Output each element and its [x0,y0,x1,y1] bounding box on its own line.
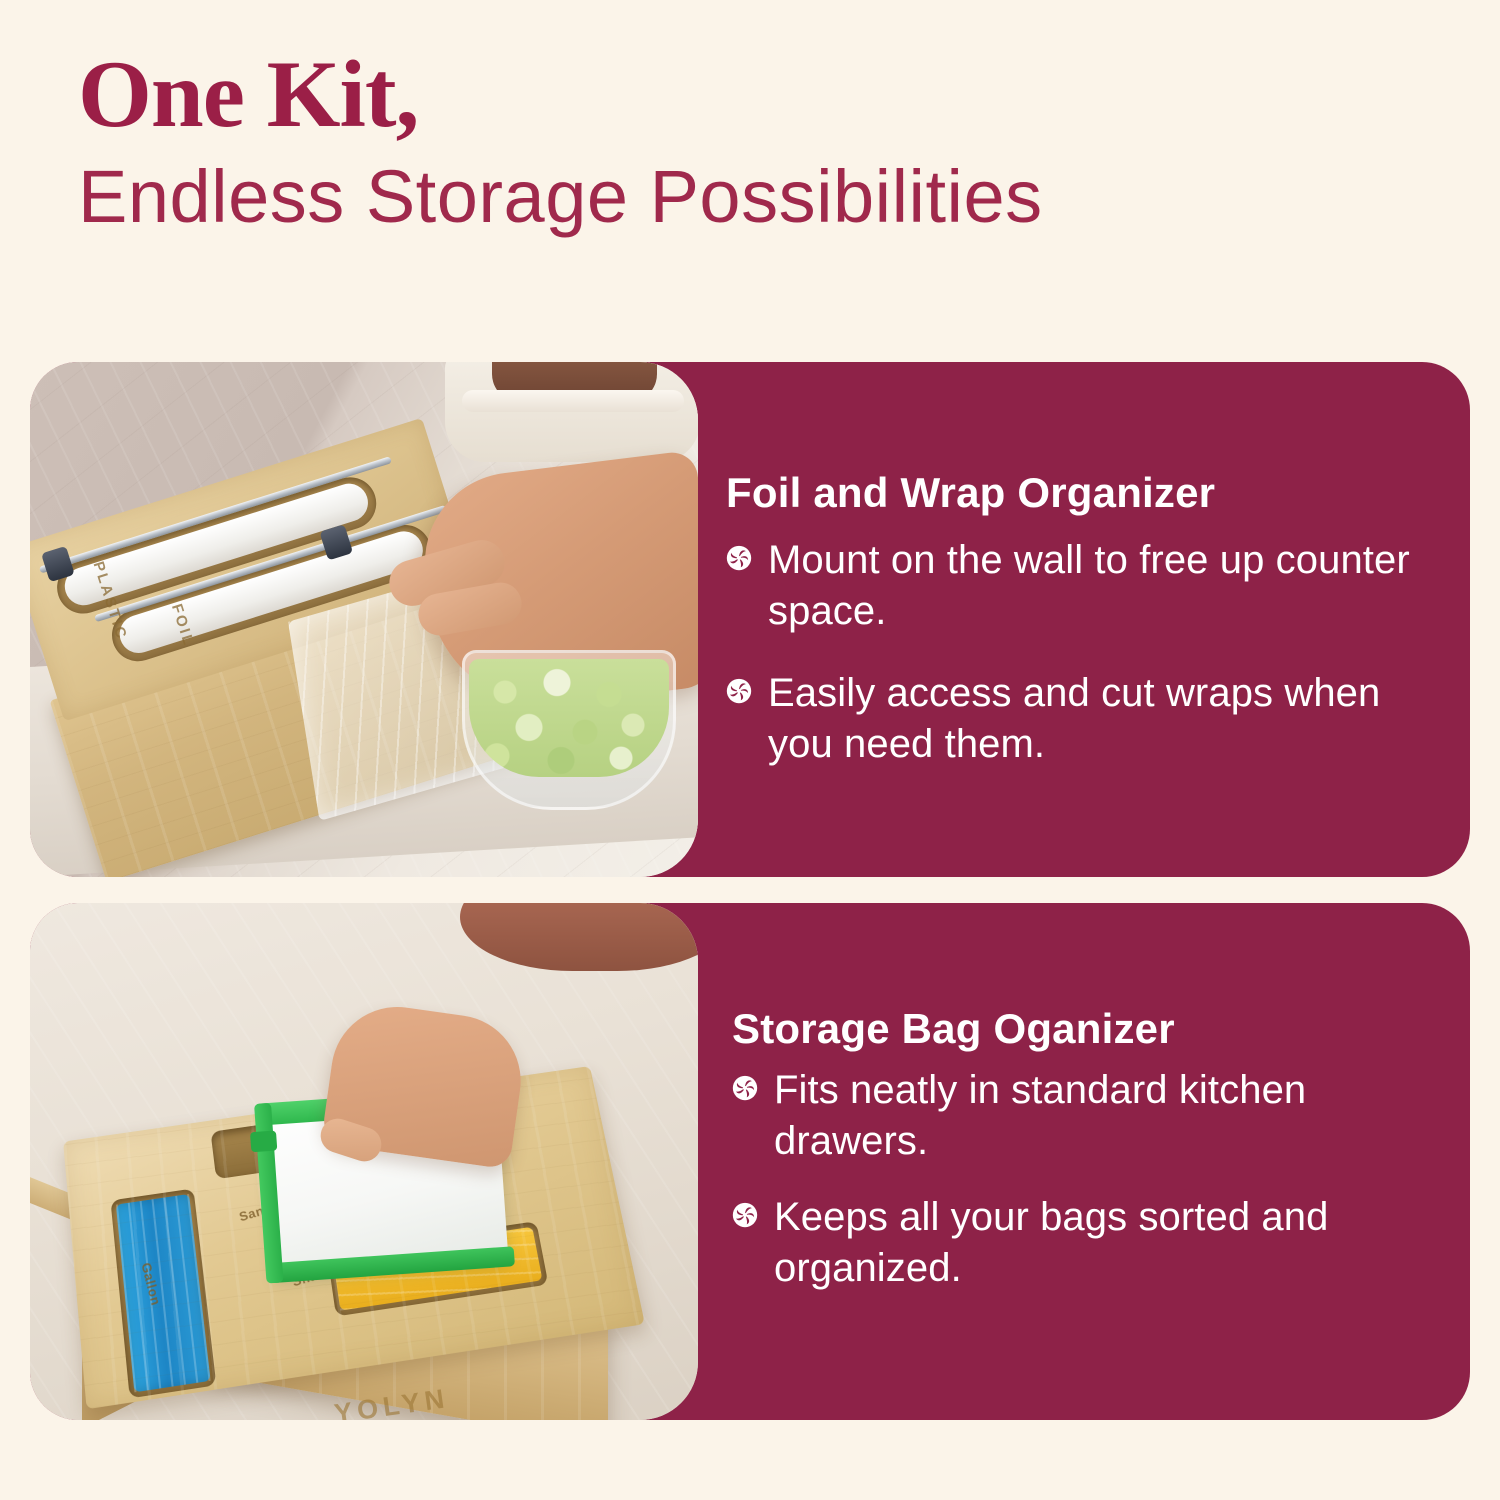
feature-card-foil-and-wrap-organizer: PLASTIC FOIL Foil and Wrap Organizer [30,362,1470,877]
pinwheel-bullet-icon [732,1075,758,1101]
page-title-line-2: Endless Storage Possibilities [78,153,1500,240]
feature-card-storage-bag-organizer: Gallon Sandwich Snack YOLYN Storage Bag … [30,903,1470,1420]
bag-zip-slider [250,1131,277,1153]
product-photo-storage-bag-organizer: Gallon Sandwich Snack YOLYN [30,903,698,1420]
pinwheel-bullet-icon [732,1202,758,1228]
list-item: Easily access and cut wraps when you nee… [726,668,1424,770]
card-1-text-panel: Foil and Wrap Organizer Mount on the wal… [698,362,1470,877]
card-2-title: Storage Bag Oganizer [732,1005,1424,1053]
card-2-text-panel: Storage Bag Oganizer Fits neatly in stan… [698,903,1470,1420]
card-1-title: Foil and Wrap Organizer [726,469,1424,517]
pinwheel-bullet-icon [726,678,752,704]
list-item: Mount on the wall to free up counter spa… [726,535,1424,637]
pinwheel-bullet-icon [726,545,752,571]
card-2-bullet-text: Keeps all your bags sorted and organized… [774,1192,1424,1294]
page-header: One Kit, Endless Storage Possibilities [0,0,1500,240]
engraved-label-gallon: Gallon [138,1261,163,1308]
list-item: Keeps all your bags sorted and organized… [732,1192,1424,1294]
pot-lid-rim [462,390,684,412]
list-item: Fits neatly in standard kitchen drawers. [732,1065,1424,1167]
gallon-bags-blue [116,1194,211,1392]
card-1-bullet-text: Easily access and cut wraps when you nee… [768,668,1424,770]
bamboo-bag-organizer: Gallon Sandwich Snack YOLYN [68,1073,628,1420]
card-2-bullet-list: Fits neatly in standard kitchen drawers.… [732,1065,1424,1318]
product-photo-foil-and-wrap-organizer: PLASTIC FOIL [30,362,698,877]
compartment-gallon [110,1188,216,1398]
shredded-cabbage [469,659,669,777]
card-1-bullet-list: Mount on the wall to free up counter spa… [726,535,1424,770]
glass-bowl [462,650,676,810]
page-title-line-1: One Kit, [78,46,1500,143]
card-2-bullet-text: Fits neatly in standard kitchen drawers. [774,1065,1424,1167]
card-1-bullet-text: Mount on the wall to free up counter spa… [768,535,1424,637]
